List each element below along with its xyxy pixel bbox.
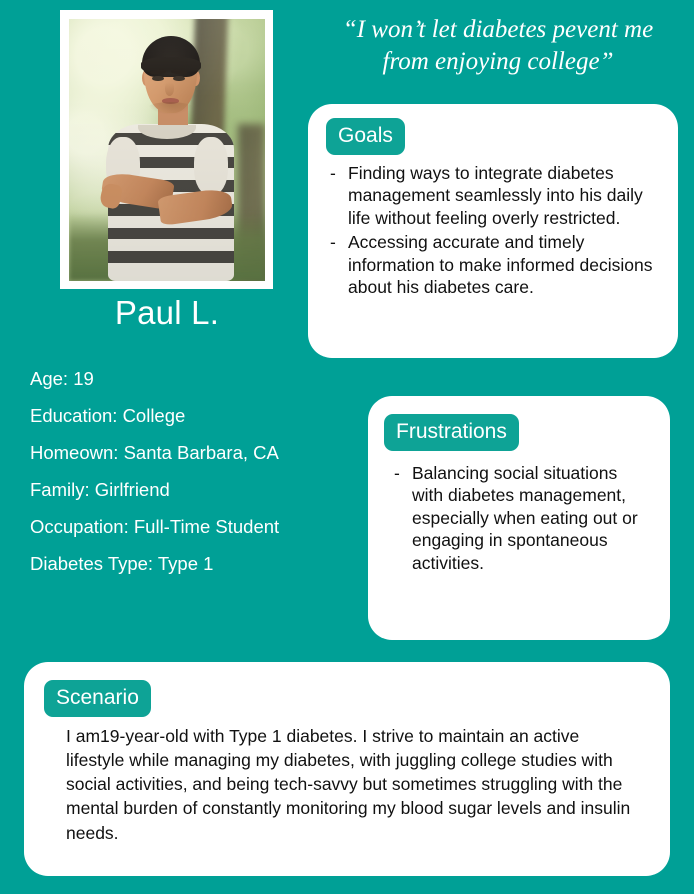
info-item-education: Education: College	[30, 407, 340, 426]
persona-demographics-list: Age: 19 Education: College Homeown: Sant…	[30, 370, 340, 592]
persona-photo-frame	[60, 10, 273, 289]
frustrations-card: Frustrations - Balancing social situatio…	[368, 396, 670, 640]
frustrations-item-text: Balancing social situations with diabete…	[412, 462, 646, 574]
bullet-dash-marker: -	[330, 231, 348, 298]
goals-item-text: Finding ways to integrate diabetes manag…	[348, 162, 660, 229]
scenario-card: Scenario I am19-year-old with Type 1 dia…	[24, 662, 670, 876]
scenario-title-chip: Scenario	[44, 680, 151, 717]
bullet-dash-marker: -	[394, 462, 412, 574]
scenario-body-text: I am19-year-old with Type 1 diabetes. I …	[66, 724, 642, 845]
goals-list-item: - Accessing accurate and timely informat…	[330, 231, 660, 298]
goals-card: Goals - Finding ways to integrate diabet…	[308, 104, 678, 358]
persona-photo	[69, 19, 265, 281]
frustrations-list: - Balancing social situations with diabe…	[394, 462, 646, 576]
goals-list-item: - Finding ways to integrate diabetes man…	[330, 162, 660, 229]
frustrations-title-chip: Frustrations	[384, 414, 519, 451]
info-item-hometown: Homeown: Santa Barbara, CA	[30, 444, 340, 463]
persona-quote: “I won’t let diabetes pevent me from enj…	[318, 14, 678, 78]
info-item-diabetes-type: Diabetes Type: Type 1	[30, 555, 340, 574]
info-item-family: Family: Girlfriend	[30, 481, 340, 500]
persona-card: Paul L. “I won’t let diabetes pevent me …	[0, 0, 694, 894]
info-item-age: Age: 19	[30, 370, 340, 389]
info-item-occupation: Occupation: Full-Time Student	[30, 518, 340, 537]
goals-list: - Finding ways to integrate diabetes man…	[330, 162, 660, 300]
bullet-dash-marker: -	[330, 162, 348, 229]
person-name: Paul L.	[0, 296, 334, 329]
frustrations-list-item: - Balancing social situations with diabe…	[394, 462, 646, 574]
photo-overlay	[69, 19, 265, 281]
goals-item-text: Accessing accurate and timely informatio…	[348, 231, 660, 298]
goals-title-chip: Goals	[326, 118, 405, 155]
